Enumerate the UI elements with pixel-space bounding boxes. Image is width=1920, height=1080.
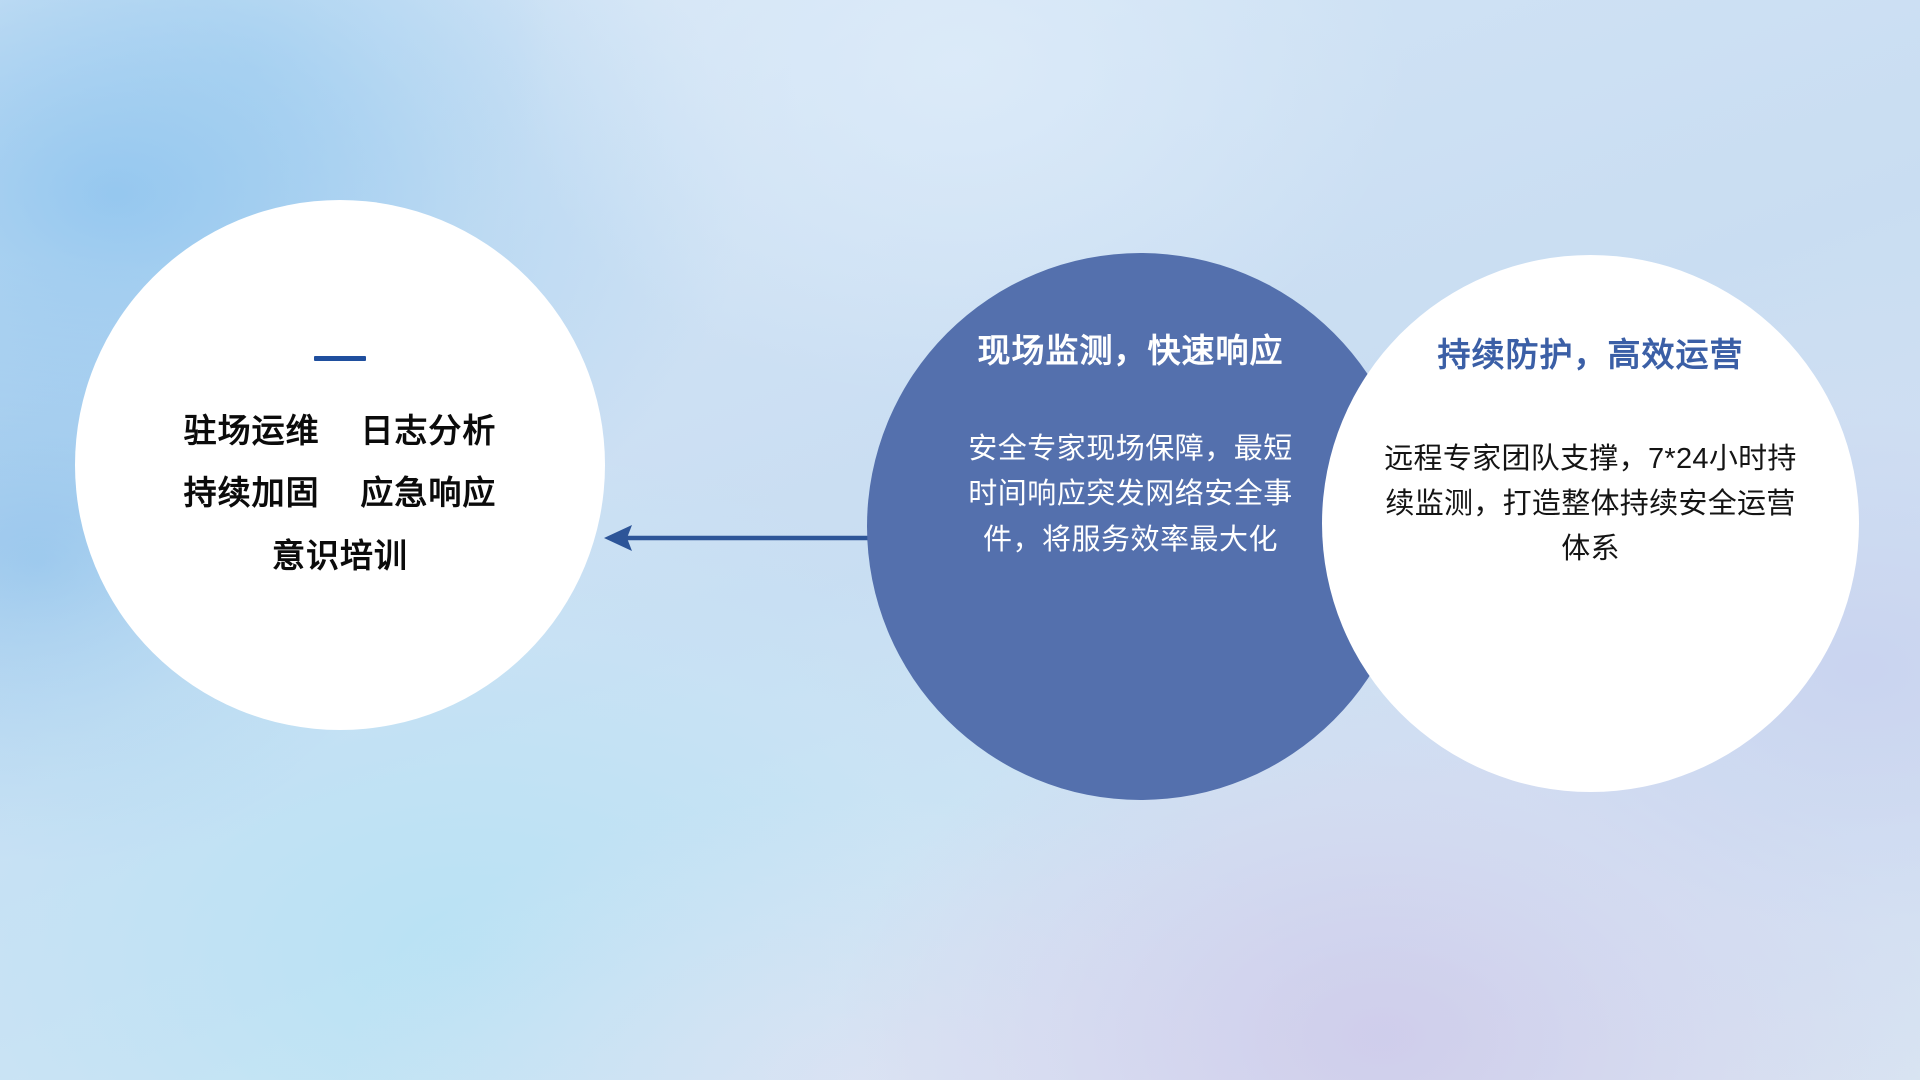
service-line-3: 意识培训: [272, 538, 408, 574]
onsite-monitoring-title: 现场监测，快速响应: [978, 331, 1284, 371]
driver-services-content: 驻场运维 日志分析 持续加固 应急响应 意识培训: [75, 200, 605, 730]
divider-dash-icon: [314, 356, 366, 361]
onsite-monitoring-body: 安全专家现场保障，最短时间响应突发网络安全事件，将服务效率最大化: [966, 427, 1296, 564]
driver-services-circle[interactable]: 驻场运维 日志分析 持续加固 应急响应 意识培训: [75, 200, 605, 730]
service-line-2: 持续加固 应急响应: [184, 475, 497, 511]
continuous-protection-circle[interactable]: 持续防护，高效运营 远程专家团队支撑，7*24小时持续监测，打造整体持续安全运营…: [1322, 255, 1859, 792]
driver-services-list: 驻场运维 日志分析 持续加固 应急响应 意识培训: [184, 413, 497, 574]
continuous-protection-content: 持续防护，高效运营 远程专家团队支撑，7*24小时持续监测，打造整体持续安全运营…: [1322, 255, 1859, 792]
continuous-protection-body: 远程专家团队支撑，7*24小时持续监测，打造整体持续安全运营体系: [1381, 437, 1801, 573]
diagram-canvas: 驻场运维 日志分析 持续加固 应急响应 意识培训 现场监测，快速响应 安全专家现…: [0, 0, 1920, 1080]
service-line-1: 驻场运维 日志分析: [184, 413, 497, 449]
continuous-protection-title: 持续防护，高效运营: [1438, 335, 1744, 375]
left-flow-arrow: [598, 512, 888, 564]
